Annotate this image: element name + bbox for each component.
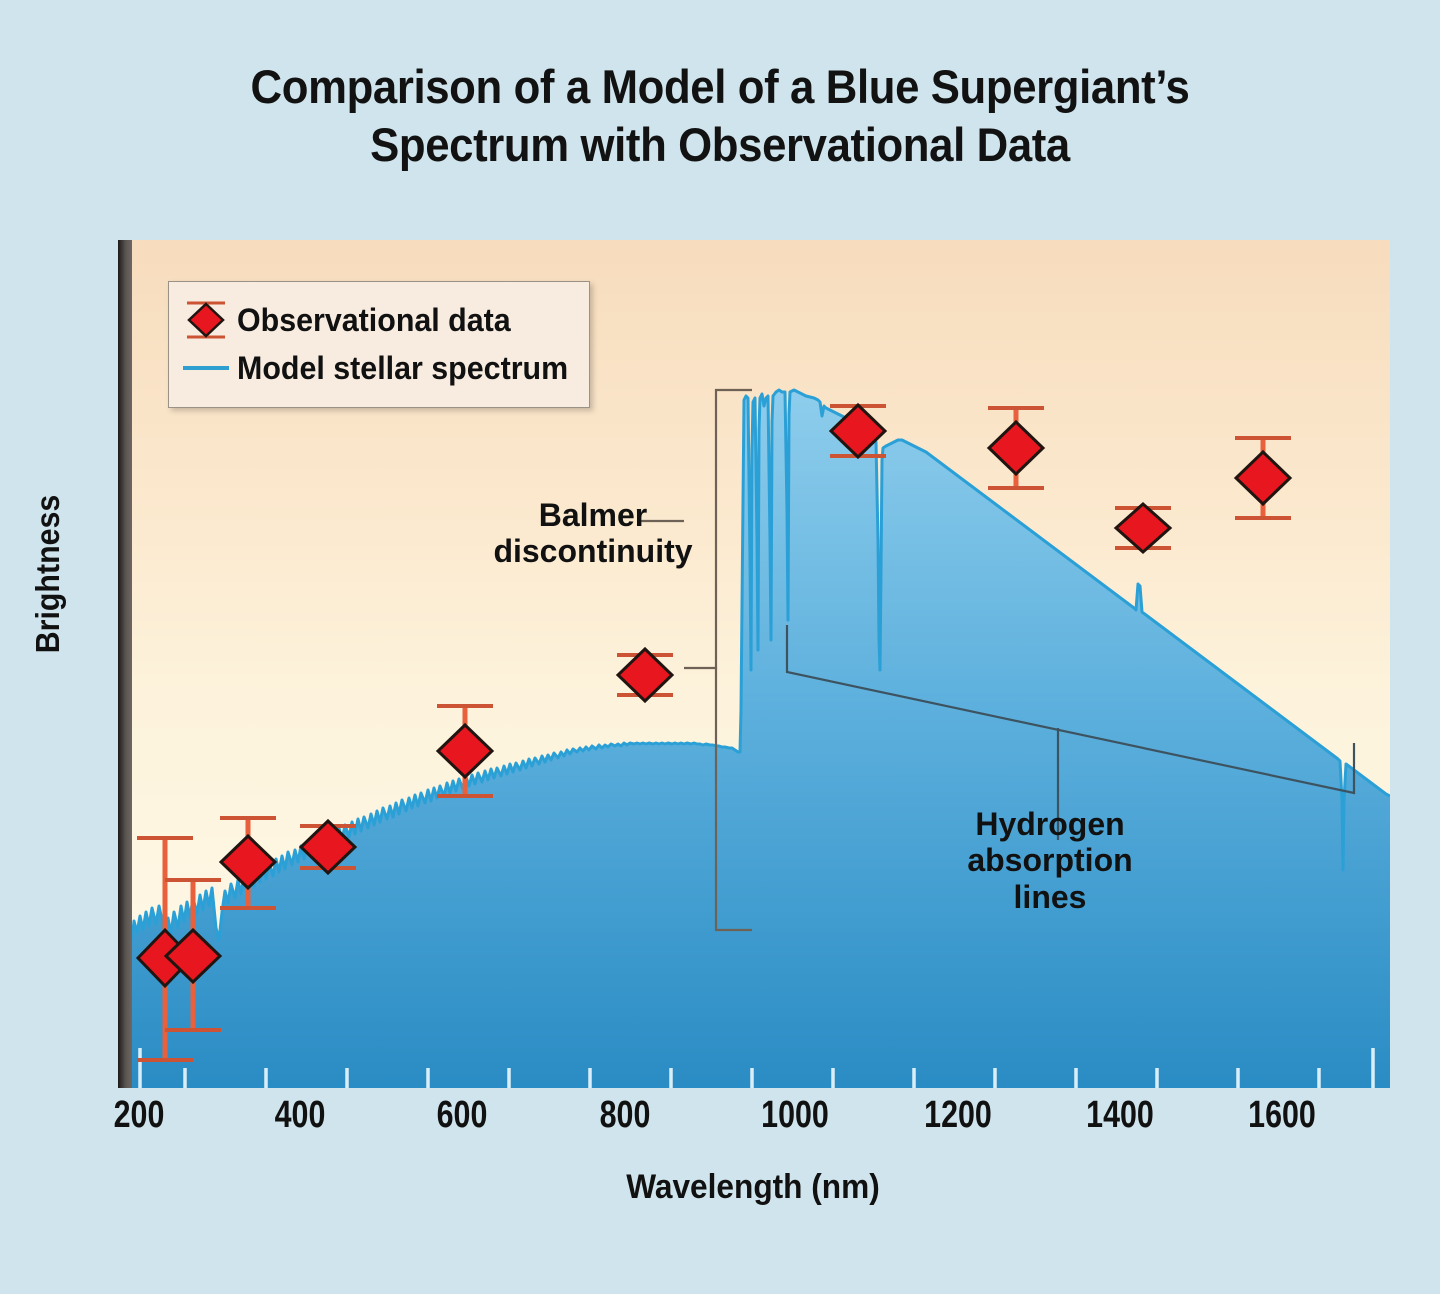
model-spectrum-line-icon bbox=[175, 344, 237, 392]
x-tick-label-1200: 1200 bbox=[924, 1094, 992, 1137]
balmer-annotation-line-2: discontinuity bbox=[483, 533, 703, 569]
x-tick-label-200: 200 bbox=[114, 1094, 165, 1137]
hydrogen-annotation-line-2: absorption bbox=[950, 842, 1150, 878]
legend-label-model-spectrum: Model stellar spectrum bbox=[237, 344, 568, 392]
x-tick-label-1600: 1600 bbox=[1248, 1094, 1316, 1137]
legend: Observational data Model stellar spectru… bbox=[168, 281, 590, 408]
x-tick-label-400: 400 bbox=[275, 1094, 326, 1137]
balmer-annotation-line-1: Balmer bbox=[483, 497, 703, 533]
uv-cutoff-band bbox=[118, 240, 132, 1088]
x-axis-label: Wavelength (nm) bbox=[162, 1168, 1343, 1207]
observational-data-marker-icon bbox=[175, 296, 237, 344]
x-tick-label-1400: 1400 bbox=[1086, 1094, 1154, 1137]
title-line-2: Spectrum with Observational Data bbox=[50, 116, 1389, 174]
title-line-1: Comparison of a Model of a Blue Supergia… bbox=[50, 58, 1389, 116]
spectrum-figure: Comparison of a Model of a Blue Supergia… bbox=[0, 0, 1440, 1294]
legend-item-observational-data: Observational data bbox=[169, 296, 589, 344]
x-tick-label-800: 800 bbox=[600, 1094, 651, 1137]
legend-label-observational-data: Observational data bbox=[237, 296, 511, 344]
y-axis-label: Brightness bbox=[29, 473, 67, 675]
hydrogen-absorption-annotation: Hydrogen absorption lines bbox=[950, 806, 1150, 915]
x-tick-label-1000: 1000 bbox=[761, 1094, 829, 1137]
page-title: Comparison of a Model of a Blue Supergia… bbox=[50, 58, 1389, 175]
balmer-discontinuity-annotation: Balmer discontinuity bbox=[483, 497, 703, 570]
data-point-group bbox=[617, 649, 673, 701]
hydrogen-annotation-line-3: lines bbox=[950, 879, 1150, 915]
hydrogen-annotation-line-1: Hydrogen bbox=[950, 806, 1150, 842]
legend-item-model-spectrum: Model stellar spectrum bbox=[169, 344, 589, 392]
x-tick-label-600: 600 bbox=[437, 1094, 488, 1137]
